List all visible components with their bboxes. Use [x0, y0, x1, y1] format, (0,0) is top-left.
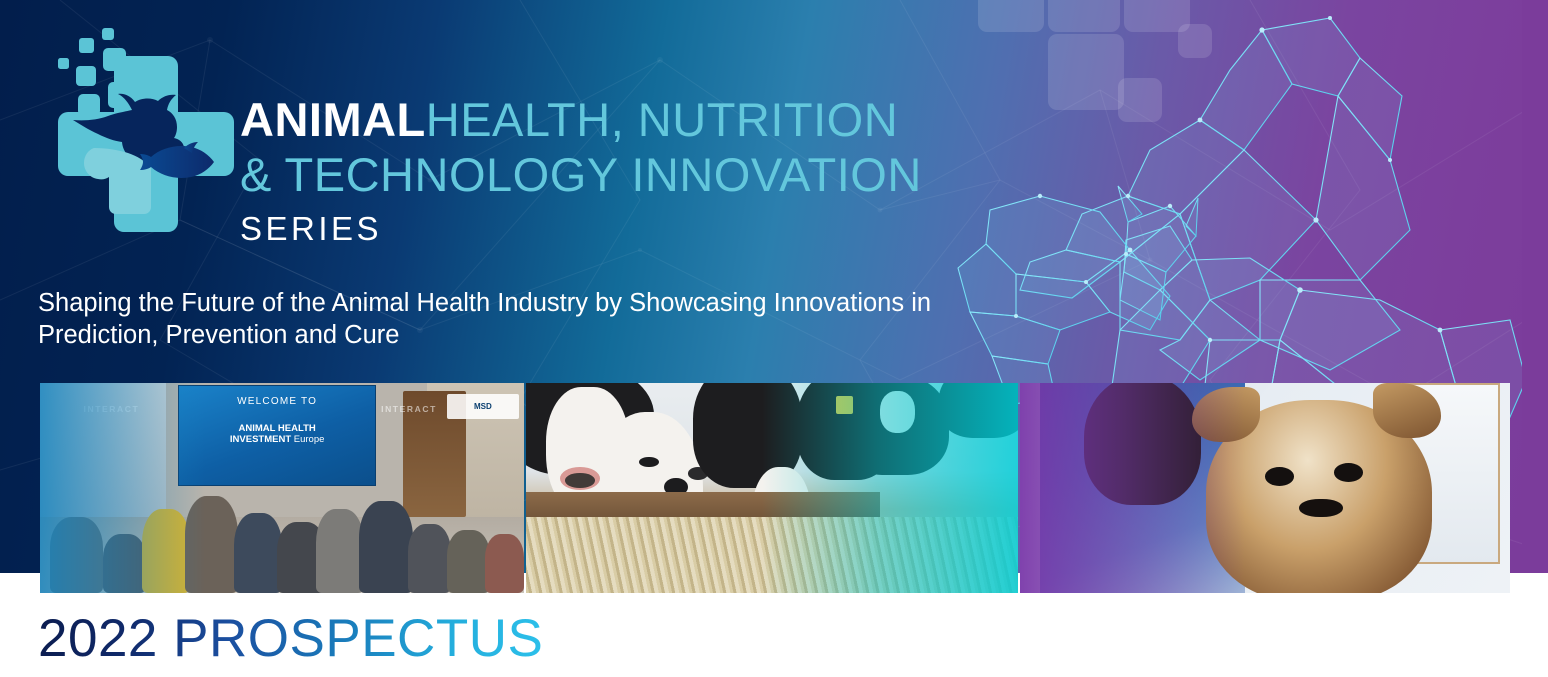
screen-welcome-text: WELCOME TO — [179, 396, 375, 407]
low-poly-cow-head — [1118, 186, 1198, 320]
screen-brand-text: ANIMAL HEALTH INVESTMENT Europe — [179, 423, 375, 445]
header-right-edge-fill — [1522, 0, 1548, 573]
decorative-square — [978, 0, 1044, 32]
title-line-1: ANIMALHEALTH, NUTRITION — [240, 92, 1020, 147]
title-animal: ANIMAL — [240, 93, 426, 146]
prospectus-heading: 2022 PROSPECTUS — [38, 608, 543, 670]
event-title-block: ANIMALHEALTH, NUTRITION & TECHNOLOGY INN… — [240, 92, 1020, 248]
booth-logo: MSD — [447, 394, 520, 419]
decorative-square — [1048, 0, 1120, 32]
dairy-cows-photo — [526, 383, 1018, 593]
title-series: SERIES — [240, 210, 1020, 248]
prospectus-year: 2022 — [38, 609, 158, 668]
animal-health-cross-logo — [36, 22, 236, 252]
conference-hall-photo: MSD WELCOME TO ANIMAL HEALTH INVESTMENT … — [40, 383, 524, 593]
welcome-screen: WELCOME TO ANIMAL HEALTH INVESTMENT Euro… — [178, 385, 376, 486]
prospectus-cover-page: ANIMALHEALTH, NUTRITION & TECHNOLOGY INN… — [0, 0, 1548, 677]
title-health-nutrition: HEALTH, NUTRITION — [426, 93, 898, 146]
photo-strip: MSD WELCOME TO ANIMAL HEALTH INVESTMENT … — [40, 383, 1510, 593]
veterinarian-dog-photo — [1020, 383, 1510, 593]
title-line-2: & TECHNOLOGY INNOVATION — [240, 147, 1020, 202]
decorative-square — [1048, 34, 1124, 110]
decorative-square — [1178, 24, 1212, 58]
decorative-square — [1118, 78, 1162, 122]
signage-right: INTERACT — [381, 404, 437, 414]
event-tagline: Shaping the Future of the Animal Health … — [38, 287, 1038, 351]
prospectus-label: PROSPECTUS — [173, 609, 543, 668]
